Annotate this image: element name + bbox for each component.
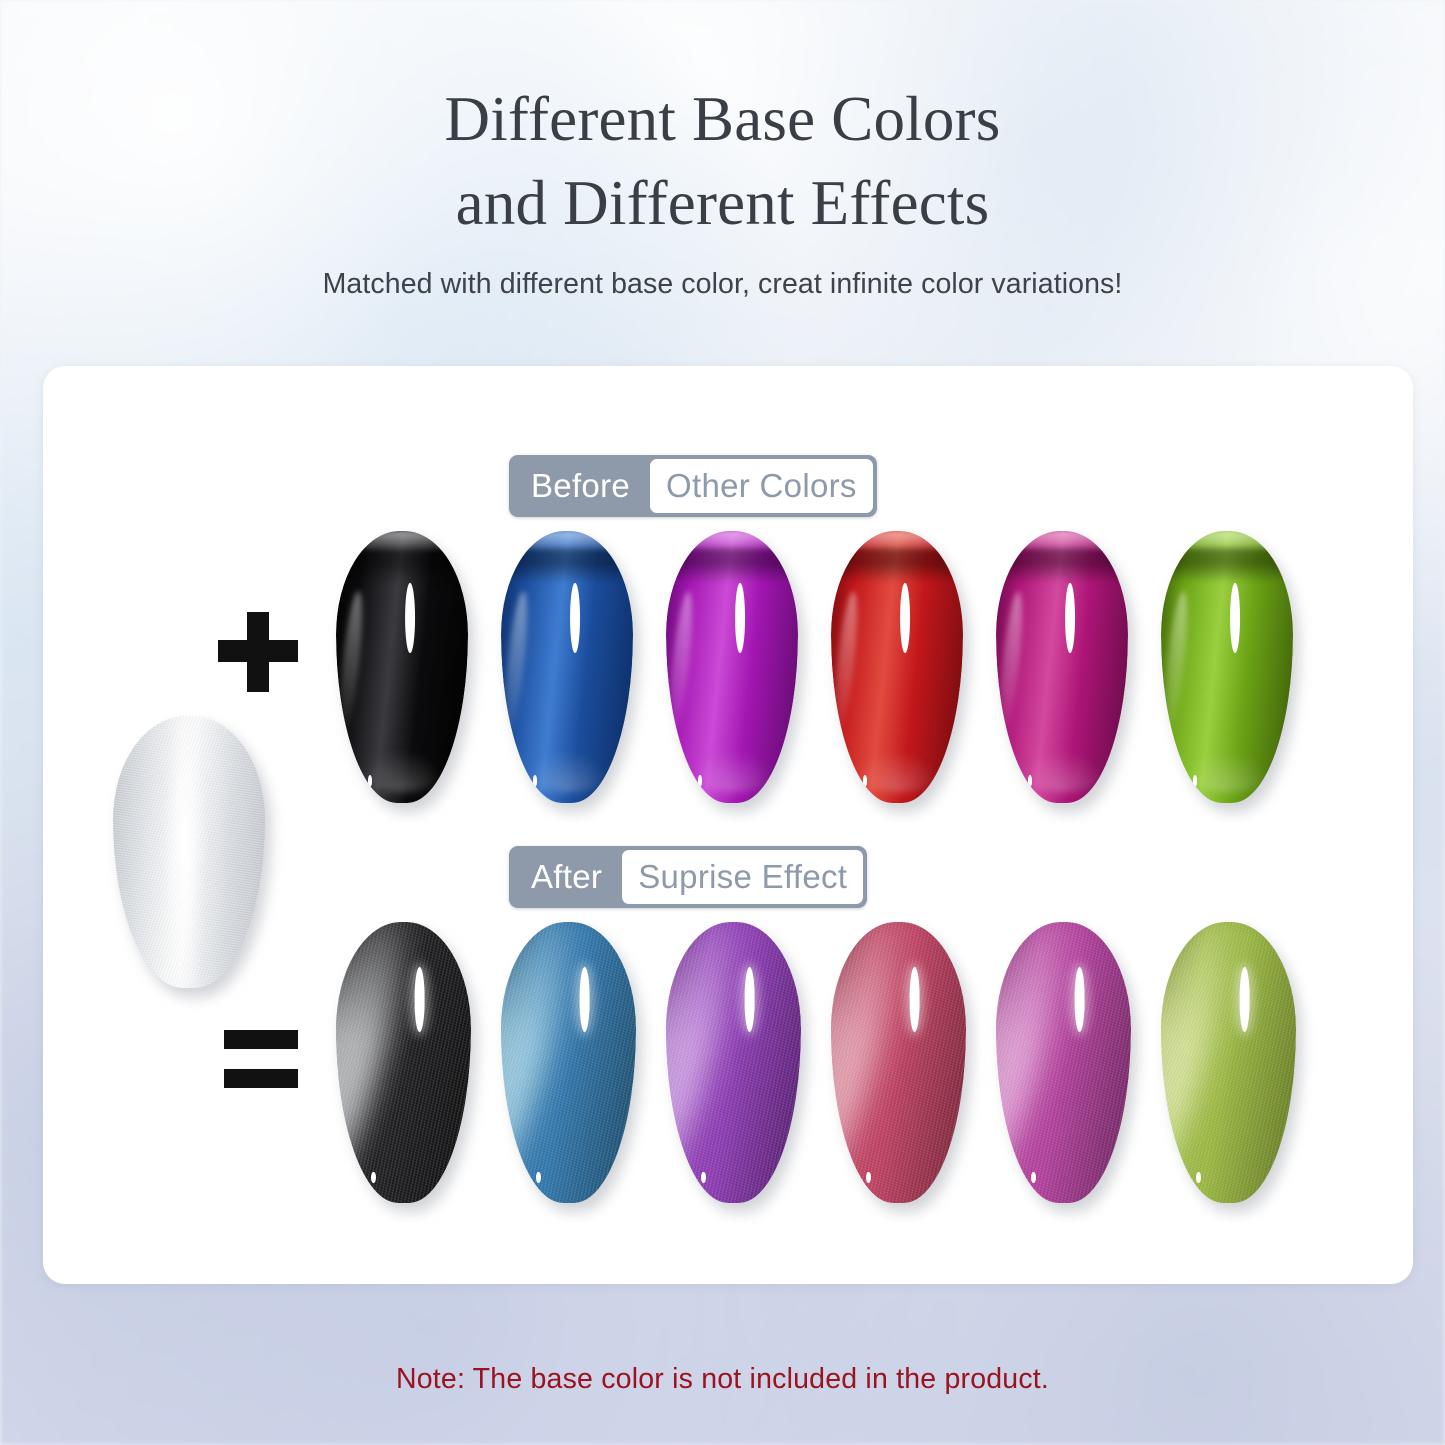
nail-tip-highlight-dot	[1031, 1172, 1036, 1184]
badge-after-right-label: Suprise Effect	[622, 850, 863, 904]
nail-highlight-streak	[1065, 583, 1075, 654]
nail-after-black-silver-cateye	[336, 922, 471, 1203]
equals-bottom-bar	[224, 1069, 298, 1088]
nail-top-sheen	[844, 531, 955, 553]
nail-tip-highlight-dot	[1196, 1172, 1201, 1184]
badge-before-right-label: Other Colors	[650, 459, 873, 513]
nail-after-yellowgreen-cateye	[1161, 922, 1296, 1203]
page-title-line-1: Different Base Colors	[0, 78, 1445, 162]
nail-top-sheen	[1009, 531, 1120, 553]
nail-tip-highlight-dot	[863, 775, 868, 786]
nail-highlight-streak	[405, 583, 415, 654]
nail-tip-highlight-dot	[536, 1172, 541, 1184]
nail-tip-highlight-dot	[371, 1172, 376, 1184]
nail-tip-highlight-dot	[866, 1172, 871, 1184]
base-nail-silver	[113, 716, 265, 988]
equals-top-bar	[224, 1030, 298, 1049]
nail-tip-highlight-dot	[698, 775, 703, 786]
nail-after-red-cateye	[831, 922, 966, 1203]
nail-highlight-streak	[570, 583, 580, 654]
header: Different Base Colors and Different Effe…	[0, 0, 1445, 301]
badge-after: After Suprise Effect	[509, 846, 867, 908]
badge-before: Before Other Colors	[509, 455, 877, 517]
nail-tip-highlight-dot	[368, 775, 373, 786]
nail-highlight-streak	[909, 967, 920, 1032]
page-subtitle: Matched with different base color, creat…	[0, 268, 1445, 301]
nail-after-magenta-cateye	[996, 922, 1131, 1203]
badge-after-left-label: After	[509, 846, 622, 908]
nail-highlight-streak	[735, 583, 745, 654]
nail-tip-highlight-dot	[1193, 775, 1198, 786]
plus-vertical-bar	[247, 612, 269, 692]
product-note: Note: The base color is not included in …	[0, 1363, 1445, 1396]
nail-tip-highlight-dot	[533, 775, 538, 786]
page-title: Different Base Colors and Different Effe…	[0, 0, 1445, 246]
equals-operator-icon	[224, 1030, 298, 1088]
plus-operator-icon	[218, 612, 298, 692]
nail-tip-highlight-dot	[701, 1172, 706, 1184]
nail-tip-highlight-dot	[1028, 775, 1033, 786]
nail-highlight-streak	[900, 583, 910, 654]
nail-highlight-streak	[744, 967, 755, 1032]
nail-highlight-streak	[579, 967, 590, 1032]
nail-top-sheen	[349, 531, 460, 553]
badge-before-left-label: Before	[509, 455, 650, 517]
nail-top-sheen	[1174, 531, 1285, 553]
nail-after-purple-cateye	[666, 922, 801, 1203]
page-title-line-2: and Different Effects	[0, 162, 1445, 246]
nail-highlight-streak	[414, 967, 425, 1032]
nail-top-sheen	[514, 531, 625, 553]
nail-highlight-streak	[1230, 583, 1240, 654]
nail-top-sheen	[679, 531, 790, 553]
nail-highlight-streak	[1074, 967, 1085, 1032]
nail-after-blue-cateye	[501, 922, 636, 1203]
nail-highlight-streak	[1239, 967, 1250, 1032]
